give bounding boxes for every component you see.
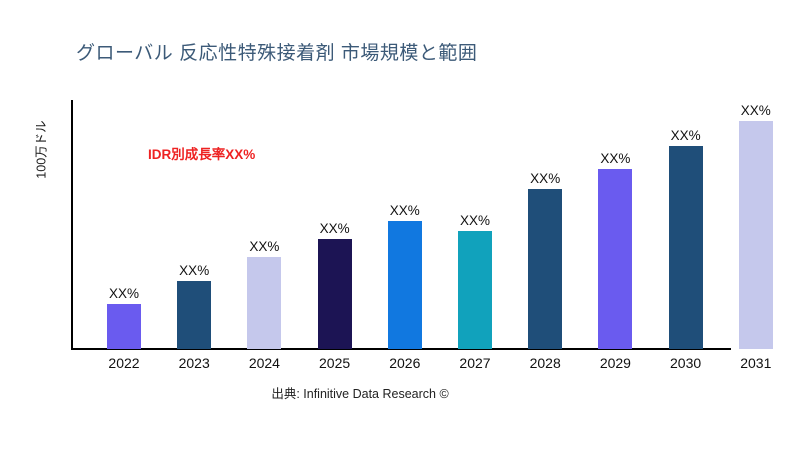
bar-2024[interactable] (247, 257, 281, 349)
x-tick-2028: 2028 (515, 355, 575, 371)
bar-value-label: XX% (741, 103, 771, 118)
bar-2027[interactable] (458, 231, 492, 349)
x-tick-2027: 2027 (445, 355, 505, 371)
x-tick-2026: 2026 (375, 355, 435, 371)
x-tick-2031: 2031 (726, 355, 786, 371)
bar-value-label: XX% (109, 286, 139, 301)
x-tick-2025: 2025 (305, 355, 365, 371)
bar-value-label: XX% (179, 263, 209, 278)
bar-value-label: XX% (600, 151, 630, 166)
x-tick-2023: 2023 (164, 355, 224, 371)
bar-2022[interactable] (107, 304, 141, 349)
x-tick-2030: 2030 (656, 355, 716, 371)
chart-source-caption: 出典: Infinitive Data Research © (0, 383, 720, 402)
bar-2030[interactable] (669, 146, 703, 349)
bar-chart: グローバル 反応性特殊接着剤 市場規模と範囲 100万ドル IDR別成長率XX%… (0, 0, 800, 450)
bar-2023[interactable] (177, 281, 211, 349)
bar-value-label: XX% (530, 171, 560, 186)
bar-2029[interactable] (598, 169, 632, 349)
bar-value-label: XX% (460, 213, 490, 228)
plot-area: XX%XX%XX%XX%XX%XX%XX%XX%XX%XX% (71, 100, 800, 349)
bar-2028[interactable] (528, 189, 562, 349)
x-tick-2029: 2029 (585, 355, 645, 371)
x-tick-2024: 2024 (234, 355, 294, 371)
bar-value-label: XX% (671, 128, 701, 143)
bar-value-label: XX% (320, 221, 350, 236)
x-tick-2022: 2022 (94, 355, 154, 371)
bar-value-label: XX% (390, 203, 420, 218)
y-axis-label: 100万ドル (31, 80, 50, 220)
bar-value-label: XX% (249, 239, 279, 254)
bar-2031[interactable] (739, 121, 773, 349)
bar-2025[interactable] (318, 239, 352, 349)
bar-2026[interactable] (388, 221, 422, 349)
page-title: グローバル 反応性特殊接着剤 市場規模と範囲 (76, 38, 477, 65)
